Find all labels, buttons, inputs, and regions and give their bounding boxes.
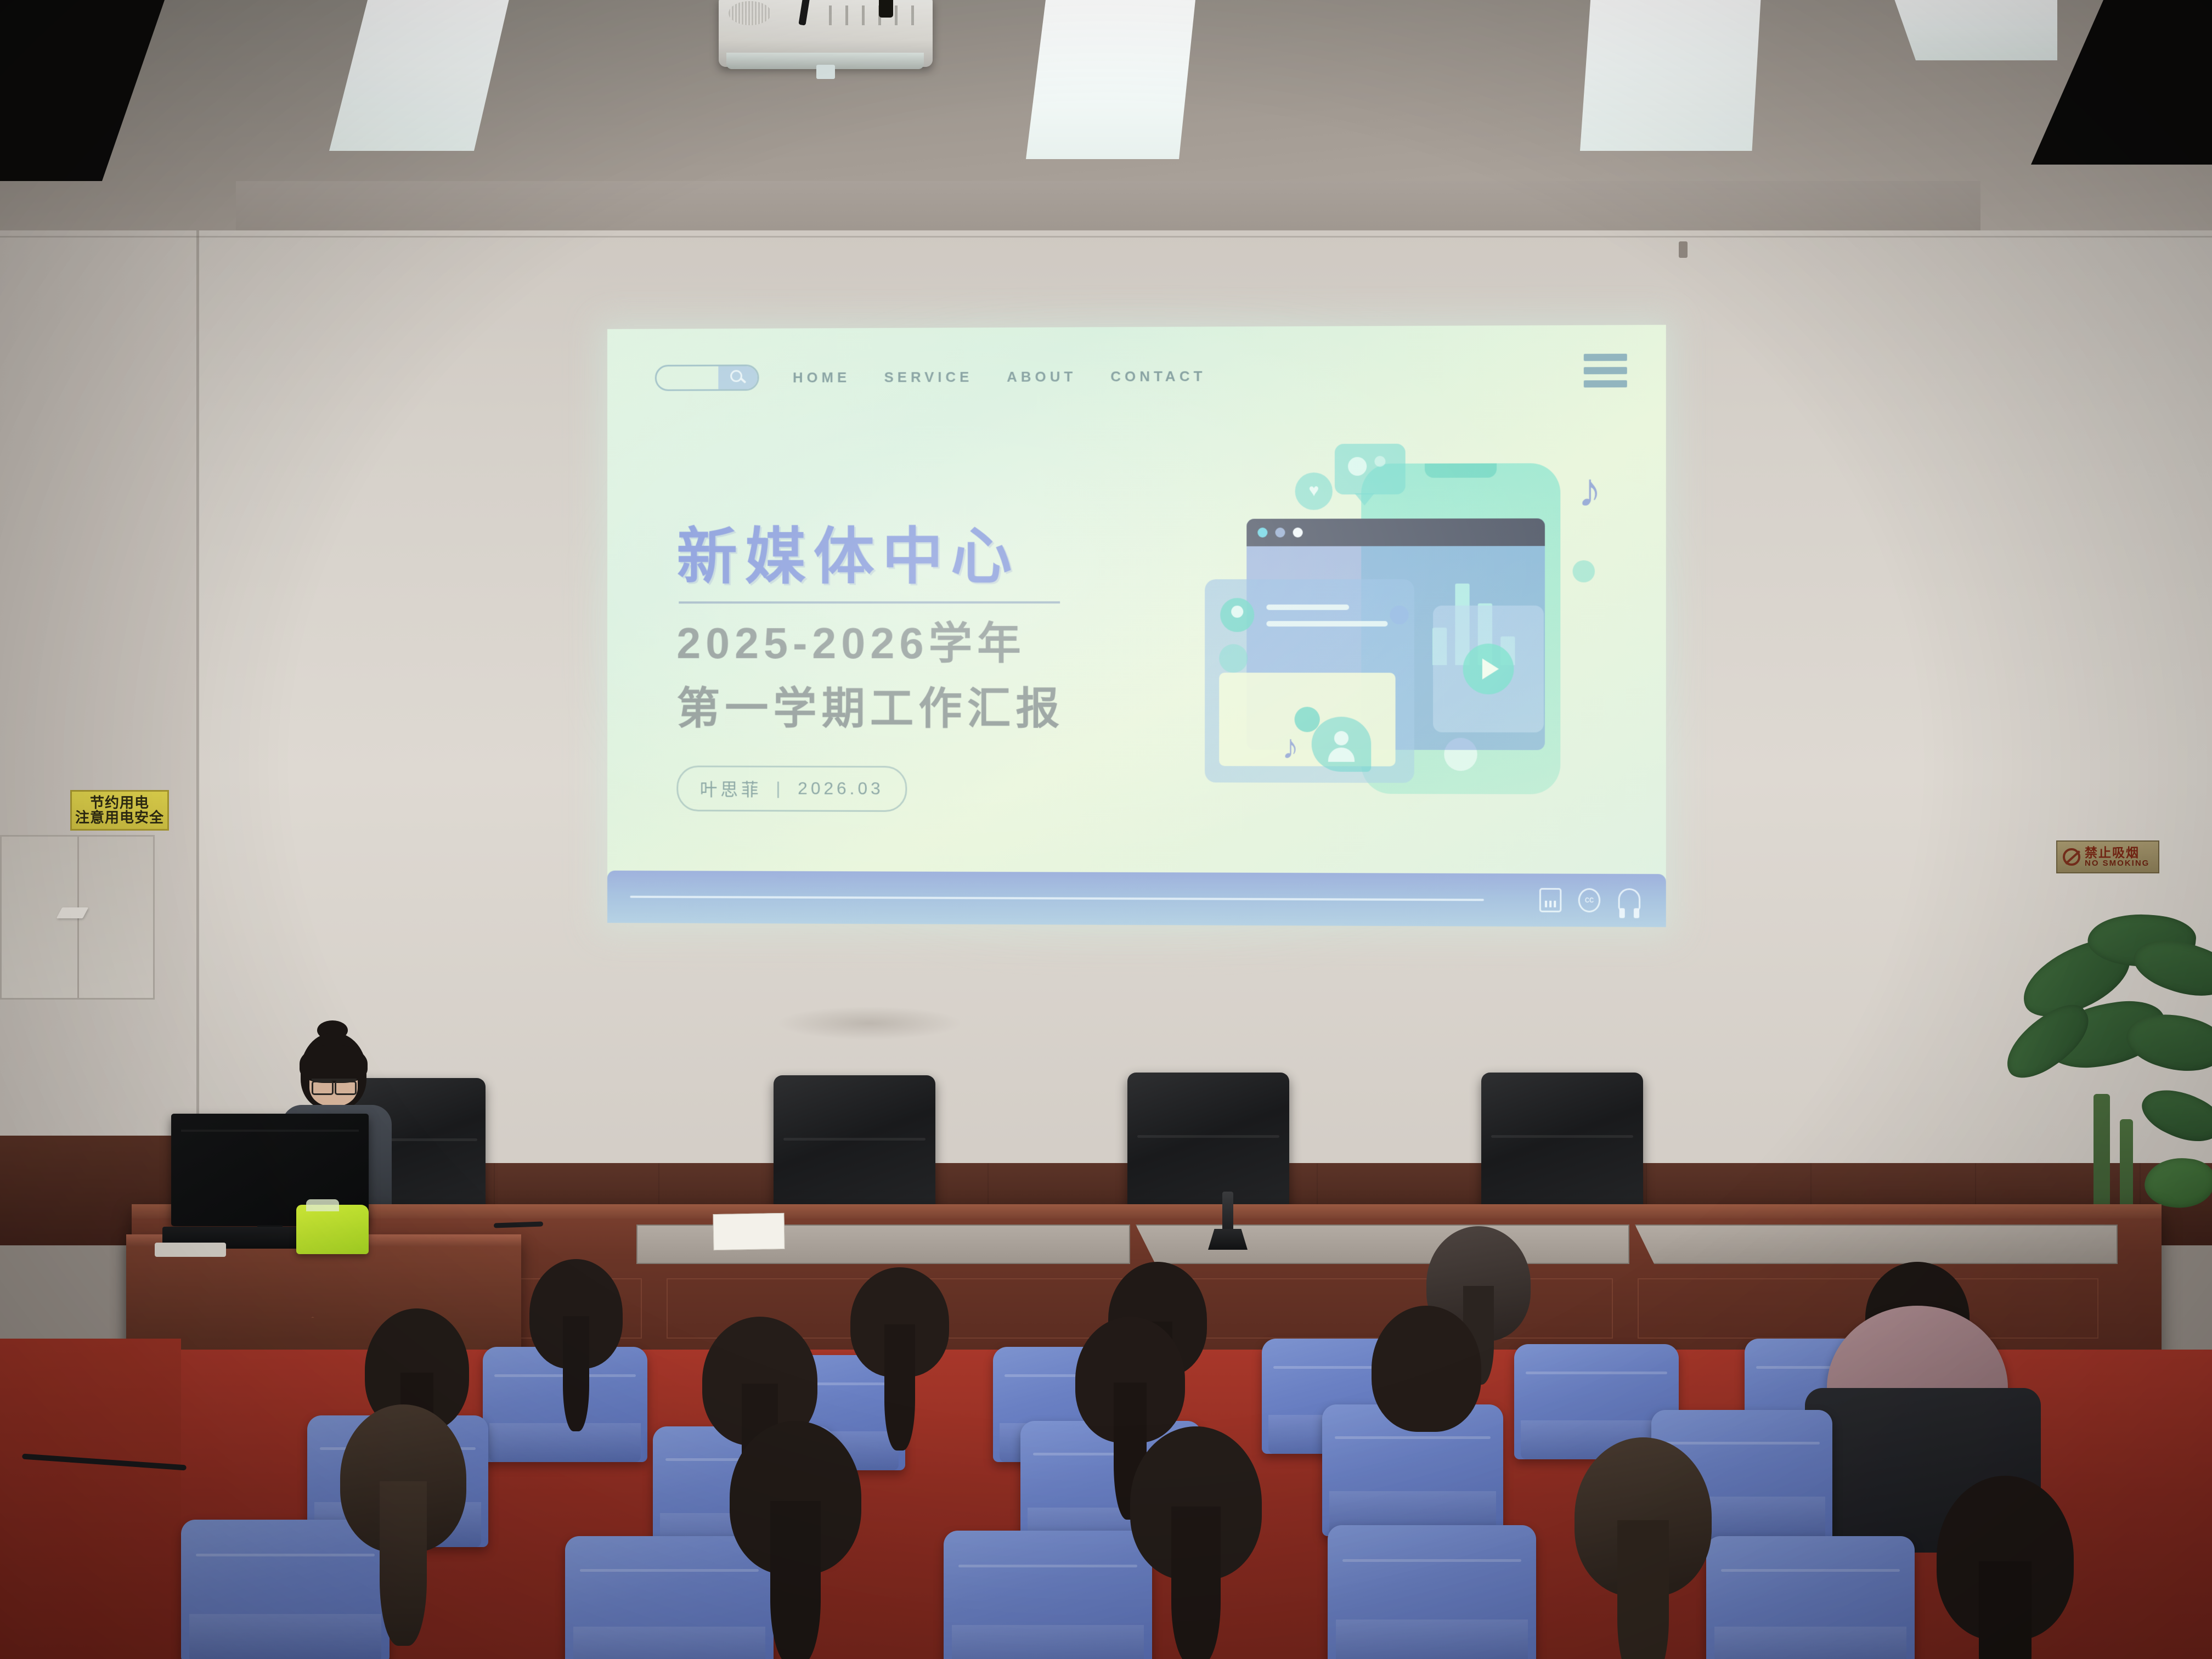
progress-track[interactable] [630, 896, 1483, 901]
carpet-floor-left [0, 1339, 181, 1659]
heart-reaction-icon [1295, 472, 1333, 510]
search-input[interactable] [655, 364, 759, 391]
ceiling-light-panel [1580, 0, 1761, 151]
ceiling-dark-recess-right [2031, 0, 2212, 165]
projector-cable [798, 0, 810, 26]
traffic-light-dot [1257, 528, 1267, 538]
remote-control[interactable] [155, 1243, 226, 1257]
ceiling-projector [719, 0, 933, 67]
closed-caption-icon[interactable] [1578, 888, 1600, 912]
nav-link-home[interactable]: HOME [793, 369, 850, 386]
paper-name-card [713, 1213, 785, 1250]
wall-trim-line [0, 236, 2212, 238]
ceiling-light-panel [329, 0, 510, 151]
no-smoking-sign: 禁止吸烟 NO SMOKING [2056, 840, 2159, 873]
music-note-icon: ♪ [1282, 727, 1299, 766]
projection-screen: HOME SERVICE ABOUT CONTACT 新媒体中心 2025-20… [607, 325, 1666, 927]
green-bag [296, 1205, 369, 1254]
head-table-chair[interactable] [774, 1075, 935, 1218]
table-modesty-panel [1635, 1224, 2118, 1264]
audience-seat[interactable] [1706, 1536, 1915, 1659]
chat-bubble-icon [1335, 444, 1406, 495]
search-button[interactable] [718, 366, 757, 389]
music-note-icon: ♪ [1578, 463, 1602, 518]
projector-vent [729, 1, 771, 25]
audience-seat[interactable] [1328, 1525, 1536, 1659]
byline-date: 2026.03 [798, 778, 883, 799]
no-smoking-icon [2063, 848, 2080, 866]
slide-subtitle-year: 2025-2026学年 [676, 617, 1178, 670]
audience-person [1130, 1426, 1262, 1580]
sign-line-2: 注意用电安全 [75, 810, 164, 825]
save-electricity-sign: 节约用电 注意用电安全 [70, 790, 169, 831]
electrical-cabinet[interactable] [0, 835, 155, 1000]
headphones-icon[interactable] [1618, 888, 1641, 910]
head-table-chair[interactable] [1127, 1073, 1289, 1215]
audience-person [529, 1259, 623, 1369]
slide-navbar: HOME SERVICE ABOUT CONTACT [655, 356, 1622, 397]
byline-separator: | [776, 778, 783, 799]
table-modesty-panel [1136, 1224, 1629, 1264]
left-wall-panel [0, 230, 198, 1196]
traffic-light-dot [1293, 528, 1303, 538]
audience-person [1937, 1476, 2074, 1640]
audience-seat[interactable] [944, 1531, 1152, 1659]
conference-room-scene: 节约用电 注意用电安全 禁止吸烟 NO SMOKING HOME [0, 0, 2212, 1659]
user-bubble-icon [1312, 716, 1372, 771]
decorative-dot [1573, 560, 1595, 582]
byline-author: 叶思菲 [700, 776, 762, 801]
search-field[interactable] [657, 366, 719, 390]
head-table-chair[interactable] [1481, 1073, 1643, 1215]
slide-player-bar[interactable] [607, 871, 1666, 927]
projector-lens [816, 65, 835, 79]
no-smoking-chinese: 禁止吸烟 [2085, 846, 2149, 859]
playlist-icon[interactable] [1539, 888, 1561, 912]
sign-line-1: 节约用电 [90, 795, 149, 810]
wall-mark [779, 1007, 960, 1040]
table-modesty-panel [636, 1224, 1130, 1264]
ceiling-dark-recess-left [0, 0, 165, 181]
ceiling-light-panel [1893, 0, 2057, 60]
nav-link-about[interactable]: ABOUT [1007, 368, 1076, 385]
operator-hair [300, 1045, 368, 1083]
avatar [1220, 598, 1254, 632]
audience-person [1372, 1306, 1481, 1432]
audience-person [730, 1421, 861, 1575]
user-profile-card-icon [1205, 579, 1414, 783]
audience-person [1075, 1317, 1185, 1443]
decorative-dot [1390, 606, 1409, 624]
nav-link-contact[interactable]: CONTACT [1110, 368, 1206, 385]
ceiling-light-panel [1026, 0, 1196, 159]
title-divider [679, 601, 1060, 603]
hamburger-menu-icon[interactable] [1584, 354, 1627, 388]
slide-headline-block: 新媒体中心 2025-2026学年 第一学期工作汇报 叶思菲 | 2026.03 [676, 524, 1178, 812]
wall-seam [196, 230, 199, 1196]
desk-microphone[interactable] [1222, 1192, 1233, 1231]
audience-person [340, 1404, 466, 1553]
audience-person [850, 1267, 949, 1377]
cabinet-handle[interactable] [57, 907, 89, 918]
search-icon [730, 370, 746, 385]
projector-ports [822, 5, 918, 25]
nav-link-service[interactable]: SERVICE [884, 369, 973, 386]
projector-power-cable [879, 0, 893, 18]
traffic-light-dot [1275, 528, 1285, 538]
audience-person [1575, 1437, 1712, 1596]
no-smoking-english: NO SMOKING [2085, 859, 2149, 868]
slide-title: 新媒体中心 [676, 524, 1178, 589]
slide-byline: 叶思菲 | 2026.03 [676, 765, 907, 812]
decorative-dot [1219, 644, 1248, 673]
play-button-card-icon [1433, 606, 1544, 732]
slide-subtitle-report: 第一学期工作汇报 [676, 682, 1178, 736]
slide-illustration: ♪ ♪ [1185, 430, 1605, 839]
wall-fixture [1679, 241, 1688, 258]
glasses-icon [312, 1079, 357, 1091]
